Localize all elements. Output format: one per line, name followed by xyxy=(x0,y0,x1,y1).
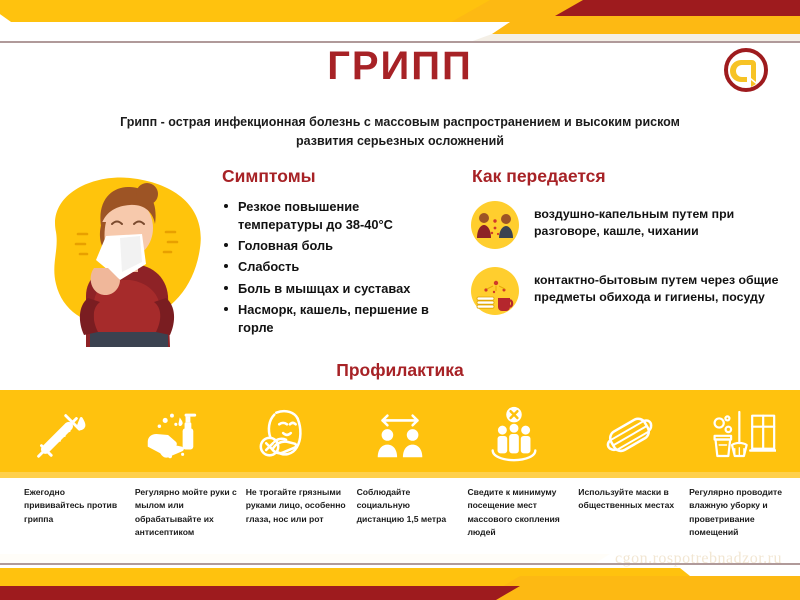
bottom-decorative-banner xyxy=(0,554,800,600)
top-banner-dark-red-shape xyxy=(555,0,800,16)
no-face-touch-icon xyxy=(229,390,343,478)
wash-hands-icon xyxy=(114,390,228,478)
prevention-caption: Сведите к минимуму посещение мест массов… xyxy=(467,486,578,539)
prevention-caption: Регулярно проводите влажную уборку и про… xyxy=(689,486,800,539)
avoid-crowds-icon xyxy=(457,390,571,478)
prevention-caption: Используйте маски в общественных местах xyxy=(578,486,689,539)
list-item: Боль в мышцах и суставах xyxy=(222,280,437,298)
dishes-mug-icon xyxy=(470,266,520,316)
bottom-banner-dark-red-shape xyxy=(0,586,520,600)
prevention-heading: Профилактика xyxy=(0,360,800,381)
bottom-banner-yellow-shape-2 xyxy=(480,576,800,600)
prevention-caption-row: Ежегодно прививайтесь против гриппа Регу… xyxy=(0,486,800,539)
list-item: Головная боль xyxy=(222,237,437,255)
transmission-heading: Как передается xyxy=(472,166,606,187)
prevention-caption: Регулярно мойте руки с мылом или обрабат… xyxy=(135,486,246,539)
transmission-item-text: воздушно-капельным путем при разговоре, … xyxy=(534,200,790,241)
top-decorative-banner xyxy=(0,0,800,34)
social-distance-icon xyxy=(343,390,457,478)
sneezing-woman-illustration xyxy=(34,172,214,347)
page-subtitle: Грипп - острая инфекционная болезнь с ма… xyxy=(120,113,680,151)
list-item: Насморк, кашель, першение в горле xyxy=(222,301,437,337)
prevention-caption: Не трогайте грязными руками лицо, особен… xyxy=(246,486,357,539)
symptoms-heading: Симптомы xyxy=(222,166,316,187)
prevention-caption: Ежегодно прививайтесь против гриппа xyxy=(0,486,135,539)
bottom-banner-hairline xyxy=(0,563,800,565)
prevention-caption: Соблюдайте социальную дистанцию 1,5 метр… xyxy=(357,486,468,539)
transmission-item-text: контактно-бытовым путем через общие пред… xyxy=(534,266,790,307)
top-banner-hairline xyxy=(0,41,800,43)
transmission-item-airborne: воздушно-капельным путем при разговоре, … xyxy=(470,200,790,250)
syringe-icon xyxy=(0,390,114,478)
two-people-talking-icon xyxy=(470,200,520,250)
clean-ventilate-icon xyxy=(686,390,800,478)
list-item: Резкое повышение температуры до 38-40°C xyxy=(222,198,437,234)
symptoms-list: Резкое повышение температуры до 38-40°C … xyxy=(222,198,437,340)
transmission-item-contact: контактно-бытовым путем через общие пред… xyxy=(470,266,790,316)
list-item: Слабость xyxy=(222,258,437,276)
page-title: ГРИПП xyxy=(0,44,800,89)
prevention-icon-row xyxy=(0,390,800,478)
top-banner-white-stripe xyxy=(0,22,510,34)
influenza-infographic-poster: ГРИПП Грипп - острая инфекционная болезн… xyxy=(0,0,800,600)
face-mask-icon xyxy=(571,390,685,478)
